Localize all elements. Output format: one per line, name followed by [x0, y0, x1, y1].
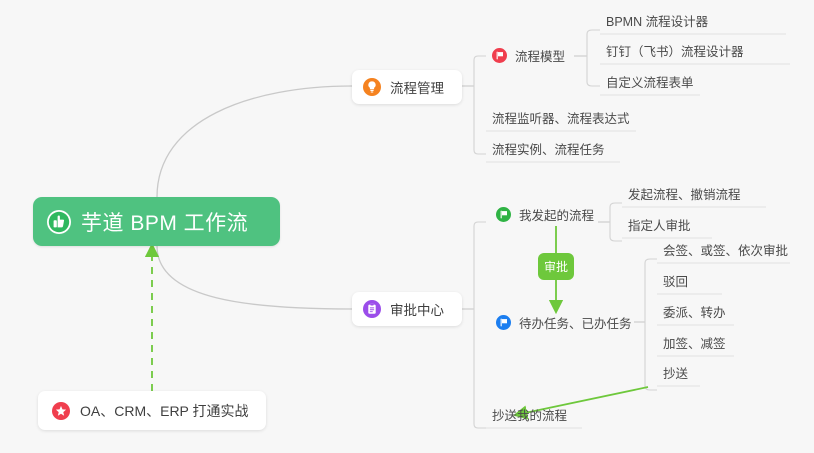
item-todo-done-tasks[interactable]: 待办任务、已办任务 [490, 311, 638, 333]
bracket-model-children [587, 30, 600, 86]
item-label-start-cancel-process: 发起流程、撤销流程 [628, 184, 741, 203]
tag-label-approval: 审批 [544, 258, 568, 275]
item-start-cancel-process[interactable]: 发起流程、撤销流程 [622, 185, 747, 207]
edge-root-to-process [157, 86, 352, 197]
item-delegate-transfer[interactable]: 委派、转办 [657, 303, 732, 325]
item-label-reject: 驳回 [663, 271, 688, 290]
branch-label-approval-center: 审批中心 [390, 299, 444, 319]
item-label-add-remove-sign: 加签、减签 [663, 333, 726, 352]
item-label-bpmn-designer: BPMN 流程设计器 [606, 11, 708, 30]
item-countersign[interactable]: 会签、或签、依次审批 [657, 241, 794, 263]
item-label-custom-form: 自定义流程表单 [606, 72, 694, 91]
item-process-model[interactable]: 流程模型 [486, 44, 571, 66]
item-label-my-started-process: 我发起的流程 [519, 205, 594, 224]
thumbs-up-icon [47, 210, 71, 234]
bracket-approval-children [474, 222, 486, 428]
item-label-cc: 抄送 [663, 363, 688, 382]
tag-node-approval[interactable]: 审批 [538, 253, 574, 280]
item-cc[interactable]: 抄送 [657, 364, 694, 386]
item-reject[interactable]: 驳回 [657, 272, 694, 294]
item-label-dingtalk-designer: 钉钉（飞书）流程设计器 [606, 41, 744, 60]
lightbulb-icon [363, 78, 381, 96]
item-label-countersign: 会签、或签、依次审批 [663, 240, 788, 259]
mindmap-canvas: 芋道 BPM 工作流 流程管理 审批中心 [0, 0, 814, 453]
item-process-instance[interactable]: 流程实例、流程任务 [486, 140, 611, 162]
item-label-todo-done-tasks: 待办任务、已办任务 [519, 313, 632, 332]
star-icon [52, 402, 70, 420]
flag-icon [492, 48, 507, 63]
bracket-process-children [474, 56, 486, 154]
item-assignee-approval[interactable]: 指定人审批 [622, 216, 697, 238]
note-label-integration: OA、CRM、ERP 打通实战 [80, 401, 249, 421]
item-add-remove-sign[interactable]: 加签、减签 [657, 334, 732, 356]
item-label-process-model: 流程模型 [515, 46, 565, 65]
note-node-integration[interactable]: OA、CRM、ERP 打通实战 [38, 391, 266, 430]
flag-icon [496, 207, 511, 222]
item-cc-to-me-process[interactable]: 抄送我的流程 [486, 406, 573, 428]
root-node[interactable]: 芋道 BPM 工作流 [33, 197, 280, 246]
branch-node-process-management[interactable]: 流程管理 [352, 70, 462, 104]
edge-root-to-approval [157, 246, 352, 309]
branch-node-approval-center[interactable]: 审批中心 [352, 292, 462, 326]
item-bpmn-designer[interactable]: BPMN 流程设计器 [600, 12, 714, 34]
item-label-cc-to-me-process: 抄送我的流程 [492, 405, 567, 424]
clipboard-icon [363, 300, 381, 318]
item-my-started-process[interactable]: 我发起的流程 [490, 203, 600, 225]
item-label-process-listener: 流程监听器、流程表达式 [492, 108, 630, 127]
root-label: 芋道 BPM 工作流 [81, 207, 248, 237]
item-label-assignee-approval: 指定人审批 [628, 215, 691, 234]
flag-icon [496, 315, 511, 330]
item-dingtalk-designer[interactable]: 钉钉（飞书）流程设计器 [600, 42, 750, 64]
item-label-process-instance: 流程实例、流程任务 [492, 139, 605, 158]
item-label-delegate-transfer: 委派、转办 [663, 302, 726, 321]
bracket-todo-children [645, 259, 657, 390]
branch-label-process-management: 流程管理 [390, 77, 444, 97]
item-process-listener[interactable]: 流程监听器、流程表达式 [486, 109, 636, 131]
bracket-mystart-children [610, 203, 622, 241]
item-custom-form[interactable]: 自定义流程表单 [600, 73, 700, 95]
